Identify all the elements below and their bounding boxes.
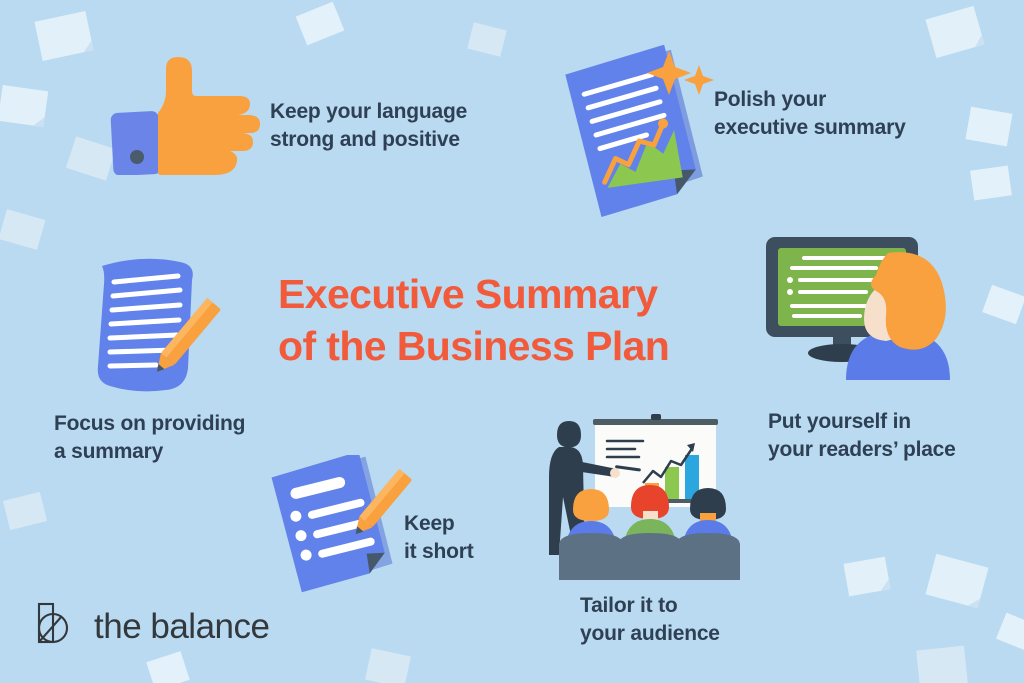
floating-paper: [0, 85, 48, 127]
floating-paper: [965, 107, 1012, 147]
tip-caption-keep-language: Keep your language strong and positive: [270, 98, 467, 154]
floating-paper: [0, 209, 45, 250]
page-title: Executive Summary of the Business Plan: [278, 268, 748, 372]
floating-paper: [66, 136, 116, 180]
floating-paper: [843, 557, 890, 597]
infographic-canvas: Executive Summary of the Business Plan K…: [0, 0, 1024, 683]
floating-paper: [3, 492, 47, 530]
tip-caption-keep-it-short: Keep it short: [404, 510, 474, 566]
floating-paper: [146, 651, 190, 683]
tip-caption-readers-place: Put yourself in your readers’ place: [768, 408, 956, 464]
brand-logo[interactable]: the balance: [32, 600, 269, 653]
checklist-pencil-icon: [270, 455, 420, 595]
tip-caption-focus: Focus on providing a summary: [54, 410, 245, 466]
floating-paper: [296, 2, 345, 46]
balance-b-logomark-icon: [32, 600, 80, 653]
floating-paper: [970, 166, 1012, 201]
brand-name: the balance: [94, 607, 269, 647]
floating-paper: [34, 11, 93, 61]
monitor-reader-icon: [760, 235, 975, 380]
document-sparkle-icon: [565, 45, 715, 230]
tip-caption-polish: Polish your executive summary: [714, 86, 906, 142]
tip-caption-tailor-audience: Tailor it to your audience: [580, 592, 720, 648]
floating-paper: [925, 6, 984, 58]
floating-paper: [916, 646, 968, 683]
floating-paper: [925, 554, 988, 609]
presentation-audience-icon: [535, 405, 765, 580]
floating-paper: [982, 285, 1024, 325]
floating-paper: [996, 613, 1024, 652]
paper-pencil-icon: [80, 250, 240, 405]
thumbs-up-icon: [110, 55, 270, 175]
floating-paper: [365, 648, 411, 683]
floating-paper: [467, 22, 507, 56]
